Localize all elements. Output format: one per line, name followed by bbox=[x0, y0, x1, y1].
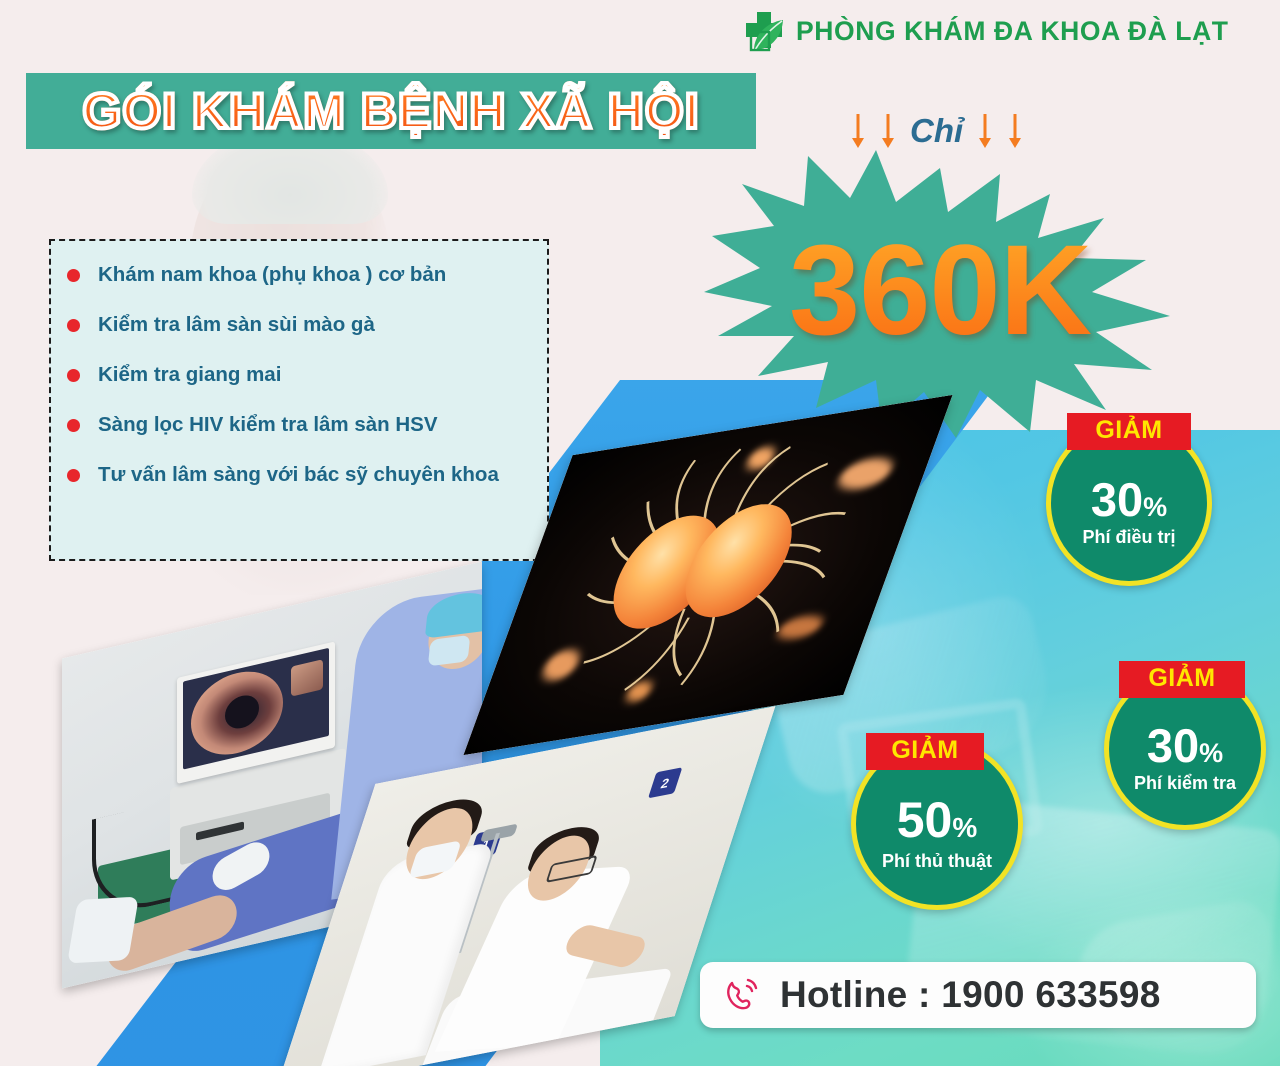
poster-canvas: PHÒNG KHÁM ĐA KHOA ĐÀ LẠT GÓI KHÁM BỆNH … bbox=[0, 0, 1280, 1066]
endoscopy-screen bbox=[183, 648, 329, 770]
badge-treatment[interactable]: GIẢM 30 % Phí điều trị bbox=[1046, 420, 1212, 586]
endoscopy-thumbnail bbox=[291, 659, 323, 696]
bullet-dot-icon bbox=[67, 369, 80, 382]
phone-ringing-icon bbox=[720, 972, 766, 1018]
badge-giam-label: GIẢM bbox=[1067, 413, 1191, 450]
page-title: GÓI KHÁM BỆNH XÃ HỘI bbox=[26, 73, 756, 149]
bullet-dot-icon bbox=[67, 269, 80, 282]
badge-percent-value: 30 bbox=[1147, 722, 1199, 769]
badge-caption: Phí kiểm tra bbox=[1134, 773, 1236, 794]
badge-percent-symbol: % bbox=[1143, 494, 1167, 521]
title-banner: GÓI KHÁM BỆNH XÃ HỘI bbox=[26, 73, 756, 149]
badge-caption: Phí điều trị bbox=[1082, 527, 1175, 548]
hotline-bar[interactable]: Hotline : 1900 633598 bbox=[700, 962, 1256, 1028]
badge-percent-symbol: % bbox=[1199, 740, 1223, 767]
list-item: Sàng lọc HIV kiểm tra lâm sàn HSV bbox=[67, 413, 533, 437]
badge-exam[interactable]: GIẢM 30 % Phí kiểm tra bbox=[1104, 668, 1266, 830]
service-label: Kiểm tra giang mai bbox=[98, 363, 281, 387]
service-label: Kiểm tra lâm sàn sùi mào gà bbox=[98, 313, 375, 337]
price-starburst: 360K bbox=[700, 140, 1180, 440]
service-list: Khám nam khoa (phụ khoa ) cơ bản Kiểm tr… bbox=[49, 239, 549, 561]
brand-name: PHÒNG KHÁM ĐA KHOA ĐÀ LẠT bbox=[796, 16, 1229, 47]
service-label: Khám nam khoa (phụ khoa ) cơ bản bbox=[98, 263, 446, 287]
list-item: Tư vấn lâm sàng với bác sỹ chuyên khoa bbox=[67, 463, 533, 487]
badge-percent: 30 % bbox=[1091, 476, 1167, 523]
surgical-cap-icon bbox=[425, 589, 482, 638]
list-item: Kiểm tra giang mai bbox=[67, 363, 533, 387]
badge-giam-label: GIẢM bbox=[1119, 661, 1245, 698]
badge-giam-label: GIẢM bbox=[866, 733, 984, 770]
service-label: Tư vấn lâm sàng với bác sỹ chuyên khoa bbox=[98, 463, 499, 487]
badge-percent-value: 50 bbox=[897, 795, 953, 845]
badge-procedure[interactable]: GIẢM 50 % Phí thủ thuật bbox=[851, 738, 1023, 910]
badge-percent-value: 30 bbox=[1091, 476, 1143, 523]
badge-caption: Phí thủ thuật bbox=[882, 851, 992, 872]
list-item: Kiểm tra lâm sàn sùi mào gà bbox=[67, 313, 533, 337]
badge-percent: 30 % bbox=[1147, 722, 1223, 769]
bullet-dot-icon bbox=[67, 419, 80, 432]
medical-cross-leaf-icon bbox=[742, 8, 786, 54]
endoscopy-lumen-image bbox=[191, 662, 283, 763]
badge-percent: 50 % bbox=[897, 795, 978, 845]
service-label: Sàng lọc HIV kiểm tra lâm sàn HSV bbox=[98, 413, 438, 437]
hotline-text: Hotline : 1900 633598 bbox=[780, 974, 1161, 1016]
badge-percent-symbol: % bbox=[952, 814, 977, 842]
list-item: Khám nam khoa (phụ khoa ) cơ bản bbox=[67, 263, 533, 287]
surgical-cloth bbox=[67, 897, 139, 964]
price-amount: 360K bbox=[700, 140, 1180, 440]
bullet-dot-icon bbox=[67, 319, 80, 332]
brand-header: PHÒNG KHÁM ĐA KHOA ĐÀ LẠT bbox=[742, 8, 1229, 54]
bullet-dot-icon bbox=[67, 469, 80, 482]
